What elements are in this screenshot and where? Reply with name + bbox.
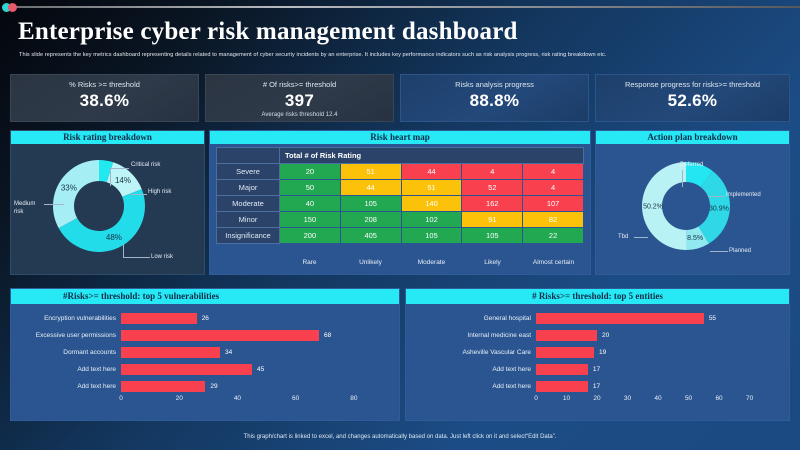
donut-chart-action-plan: 30.9%8.5%50.2% Deferred Implemented Plan…: [596, 144, 789, 276]
heat-map-cell[interactable]: 44: [340, 180, 401, 196]
leader-line-implemented: [708, 196, 725, 197]
donut-slice-percent: 48%: [106, 233, 122, 242]
bar-row: Excessive user permissions68: [11, 327, 399, 344]
bar-category-label: Add text here: [11, 383, 121, 390]
bar-row: Asheville Vascular Care19: [406, 344, 789, 361]
bar-track: 68: [121, 327, 399, 344]
heat-map-cell[interactable]: 208: [340, 212, 401, 228]
bar-value-label: 55: [709, 315, 716, 322]
leader-line-medium: [44, 204, 64, 205]
donut-label-medium-risk: Medium risk: [14, 200, 44, 216]
heat-map-cell[interactable]: 40: [280, 196, 341, 212]
heat-map-row-label: Moderate: [217, 196, 280, 212]
bar-category-label: Encryption vulnerabilities: [11, 315, 121, 322]
bar-category-label: Excessive user permissions: [11, 332, 121, 339]
heat-map-header-row: Total # of Risk Rating: [217, 148, 584, 164]
donut-label-high-risk: High risk: [148, 189, 171, 195]
kpi-card-response-progress: Response progress for risks>= threshold …: [595, 74, 790, 122]
heat-map-row-label: Major: [217, 180, 280, 196]
heat-map-cell[interactable]: 102: [401, 212, 462, 228]
kpi-label: # Of risks>= threshold: [206, 80, 393, 89]
x-axis-tick-label: 40: [654, 395, 661, 402]
leader-line-low: [123, 244, 124, 258]
heat-map-x-axis: RareUnlikelyModerateLikelyAlmost certain: [279, 259, 584, 266]
leader-line-deferred: [682, 170, 683, 187]
bar-row: Internal medicine east20: [406, 327, 789, 344]
heat-map-cell[interactable]: 4: [523, 180, 584, 196]
bar-row: General hospital55: [406, 310, 789, 327]
heat-map-cell[interactable]: 44: [401, 164, 462, 180]
bar-row: Add text here17: [406, 361, 789, 378]
heat-map-row: Moderate40105140162107: [217, 196, 584, 212]
bar-category-label: Add text here: [406, 383, 536, 390]
page-subtitle: This slide represents the key metrics da…: [19, 52, 779, 58]
heat-map-cell[interactable]: 4: [462, 164, 523, 180]
x-axis-tick-label: 80: [350, 395, 357, 402]
leader-line-critical-h: [110, 168, 129, 169]
bar-rows-entities: General hospital55Internal medicine east…: [406, 310, 789, 395]
bar-rows-vulnerabilities: Encryption vulnerabilities26Excessive us…: [11, 310, 399, 395]
bar-fill[interactable]: [121, 313, 197, 324]
heat-map-cell[interactable]: 22: [523, 228, 584, 244]
leader-line-critical: [110, 168, 111, 186]
x-axis-tick-label: 40: [234, 395, 241, 402]
donut-slice: [53, 160, 99, 228]
x-axis-tick-label: 70: [746, 395, 753, 402]
bar-fill[interactable]: [536, 347, 594, 358]
donut-label-tbd: Tbd: [618, 234, 628, 240]
donut-slice-percent: 14%: [115, 176, 131, 185]
bar-track: 17: [536, 378, 789, 395]
bar-fill[interactable]: [536, 313, 704, 324]
x-axis-tick-label: 20: [176, 395, 183, 402]
leader-line-low-h: [123, 257, 150, 258]
bar-value-label: 17: [593, 366, 600, 373]
heat-map-column-label: Moderate: [401, 259, 462, 266]
heat-map-cell[interactable]: 91: [462, 212, 523, 228]
heat-map-cell[interactable]: 150: [280, 212, 341, 228]
page-title: Enterprise cyber risk management dashboa…: [18, 18, 518, 46]
panel-top-vulnerabilities: #Risks>= threshold: top 5 vulnerabilitie…: [10, 288, 400, 421]
bar-track: 45: [121, 361, 399, 378]
panel-title-risk-rating: Risk rating breakdown: [11, 131, 204, 144]
decorative-dot-red-icon: [8, 3, 17, 12]
bar-row: Dormant accounts34: [11, 344, 399, 361]
heat-map-cell[interactable]: 82: [523, 212, 584, 228]
x-axis-entities: 010203040506070: [406, 395, 789, 407]
bar-row: Add text here29: [11, 378, 399, 395]
donut-label-low-risk: Low risk: [151, 254, 173, 260]
bar-value-label: 45: [257, 366, 264, 373]
heat-map-cell[interactable]: 405: [340, 228, 401, 244]
heat-map-cell[interactable]: 105: [401, 228, 462, 244]
panel-title-heat-map: Risk heart map: [210, 131, 590, 144]
panel-risk-rating-breakdown: Risk rating breakdown 14%48%33% Critical…: [10, 130, 205, 275]
heat-map-cell[interactable]: 51: [401, 180, 462, 196]
bar-value-label: 26: [202, 315, 209, 322]
leader-line-tbd: [634, 237, 648, 238]
bar-row: Encryption vulnerabilities26: [11, 310, 399, 327]
leader-line-planned: [710, 251, 728, 252]
x-axis-tick-label: 50: [685, 395, 692, 402]
heat-map-corner-blank: [217, 148, 280, 164]
panel-title-entities: # Risks>= threshold: top 5 entities: [406, 289, 789, 304]
donut-label-deferred: Deferred: [680, 162, 703, 168]
donut-slice-percent: 8.5%: [687, 235, 703, 242]
heat-map-cell[interactable]: 107: [523, 196, 584, 212]
kpi-subtext: Average risks threshold 12.4: [206, 112, 393, 118]
x-axis-tick-label: 30: [624, 395, 631, 402]
bar-row: Add text here45: [11, 361, 399, 378]
bar-fill[interactable]: [536, 364, 588, 375]
kpi-card-number-of-risks: # Of risks>= threshold 397 Average risks…: [205, 74, 394, 122]
bar-track: 17: [536, 361, 789, 378]
heat-map-row: Severe20514444: [217, 164, 584, 180]
donut-label-implemented: Implemented: [726, 192, 761, 198]
bar-value-label: 34: [225, 349, 232, 356]
donut-chart-risk-rating: 14%48%33% Critical risk High risk Low ri…: [11, 144, 204, 276]
bar-category-label: Dormant accounts: [11, 349, 121, 356]
donut-label-planned: Planned: [729, 248, 751, 254]
bar-value-label: 20: [602, 332, 609, 339]
heat-map-cell[interactable]: 4: [523, 164, 584, 180]
kpi-card-analysis-progress: Risks analysis progress 88.8%: [400, 74, 589, 122]
header-rule: [14, 6, 800, 8]
heat-map-row: Major504451524: [217, 180, 584, 196]
bar-row: Add text here17: [406, 378, 789, 395]
x-axis-tick-label: 20: [593, 395, 600, 402]
bar-category-label: Add text here: [11, 366, 121, 373]
heat-map-row-label: Severe: [217, 164, 280, 180]
x-axis-tick-label: 0: [534, 395, 538, 402]
x-axis-vulnerabilities: 020406080: [11, 395, 399, 407]
kpi-value: 52.6%: [596, 91, 789, 111]
footer-note: This graph/chart is linked to excel, and…: [0, 434, 800, 440]
bar-fill[interactable]: [536, 330, 597, 341]
panel-title-vulnerabilities: #Risks>= threshold: top 5 vulnerabilitie…: [11, 289, 399, 304]
x-axis-tick-label: 0: [119, 395, 123, 402]
heat-map-cell[interactable]: 162: [462, 196, 523, 212]
kpi-card-percent-risks: % Risks >= threshold 38.6%: [10, 74, 199, 122]
bar-track: 34: [121, 344, 399, 361]
kpi-value: 88.8%: [401, 91, 588, 111]
bar-fill[interactable]: [121, 330, 319, 341]
leader-line-high: [131, 194, 147, 195]
donut-label-critical-risk: Critical risk: [131, 162, 160, 168]
donut-slice-percent: 50.2%: [643, 204, 663, 211]
heat-map-cell[interactable]: 52: [462, 180, 523, 196]
kpi-value: 38.6%: [11, 91, 198, 111]
heat-map-table: Total # of Risk RatingSevere20514444Majo…: [216, 147, 584, 244]
heat-map-row-label: Minor: [217, 212, 280, 228]
kpi-value: 397: [206, 91, 393, 111]
bar-category-label: Internal medicine east: [406, 332, 536, 339]
heat-map-cell[interactable]: 51: [340, 164, 401, 180]
heat-map-cell[interactable]: 50: [280, 180, 341, 196]
panel-top-entities: # Risks>= threshold: top 5 entities Gene…: [405, 288, 790, 421]
heat-map-column-label: Rare: [279, 259, 340, 266]
bar-track: 55: [536, 310, 789, 327]
bar-category-label: Add text here: [406, 366, 536, 373]
bar-fill[interactable]: [121, 347, 220, 358]
bar-value-label: 19: [599, 349, 606, 356]
bar-track: 29: [121, 378, 399, 395]
heat-map-column-label: Almost certain: [523, 259, 584, 266]
bar-fill[interactable]: [121, 381, 205, 392]
heat-map-cell[interactable]: 140: [401, 196, 462, 212]
panel-action-plan-breakdown: Action plan breakdown 30.9%8.5%50.2% Def…: [595, 130, 790, 275]
heat-map-row: Insignificance20040510510522: [217, 228, 584, 244]
bar-track: 20: [536, 327, 789, 344]
x-axis-tick-label: 60: [715, 395, 722, 402]
heat-map-column-label: Unlikely: [340, 259, 401, 266]
heat-map-cell[interactable]: 105: [462, 228, 523, 244]
bar-track: 26: [121, 310, 399, 327]
kpi-label: Risks analysis progress: [401, 80, 588, 89]
heat-map-column-label: Likely: [462, 259, 523, 266]
heat-map-total-header: Total # of Risk Rating: [280, 148, 584, 164]
bar-fill[interactable]: [121, 364, 252, 375]
kpi-label: % Risks >= threshold: [11, 80, 198, 89]
bar-value-label: 29: [210, 383, 217, 390]
bar-track: 19: [536, 344, 789, 361]
donut-slice-percent: 33%: [61, 184, 77, 193]
panel-title-action-plan: Action plan breakdown: [596, 131, 789, 144]
heat-map-row: Minor1502081029182: [217, 212, 584, 228]
bar-value-label: 68: [324, 332, 331, 339]
heat-map-row-label: Insignificance: [217, 228, 280, 244]
bar-category-label: Asheville Vascular Care: [406, 349, 536, 356]
x-axis-tick-label: 60: [292, 395, 299, 402]
panel-risk-heat-map: Risk heart map Total # of Risk RatingSev…: [209, 130, 591, 275]
bar-category-label: General hospital: [406, 315, 536, 322]
donut-slice-percent: 30.9%: [709, 205, 729, 212]
x-axis-tick-label: 10: [563, 395, 570, 402]
bar-value-label: 17: [593, 383, 600, 390]
heat-map-cell[interactable]: 200: [280, 228, 341, 244]
heat-map-cell[interactable]: 20: [280, 164, 341, 180]
kpi-label: Response progress for risks>= threshold: [596, 80, 789, 89]
heat-map-cell[interactable]: 105: [340, 196, 401, 212]
bar-fill[interactable]: [536, 381, 588, 392]
